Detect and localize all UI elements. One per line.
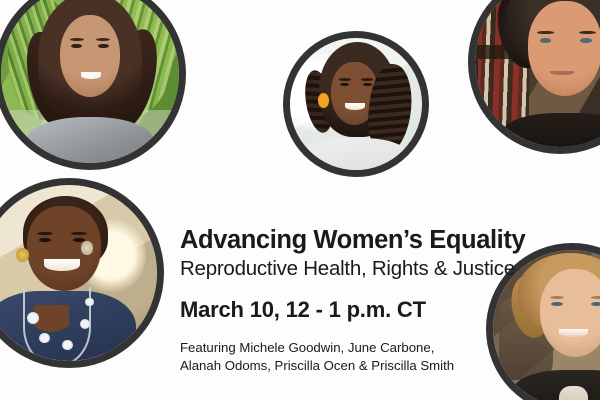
portrait-top-left: [0, 0, 186, 170]
portrait-top-right-photo: [475, 0, 600, 147]
event-datetime: March 10, 12 - 1 p.m. CT: [180, 298, 520, 322]
earring-left-icon: [318, 93, 329, 108]
featuring-line-2: Alanah Odoms, Priscilla Ocen & Priscilla…: [180, 357, 520, 374]
featuring-speakers: Featuring Michele Goodwin, June Carbone,…: [180, 339, 520, 374]
portrait-left: [0, 178, 164, 368]
earring-right-icon: [81, 241, 92, 254]
featuring-line-1: Featuring Michele Goodwin, June Carbone,: [180, 339, 520, 356]
event-promo-poster: Advancing Women’s Equality Reproductive …: [0, 0, 600, 400]
portrait-top-left-photo: [1, 0, 179, 163]
portrait-left-photo: [0, 185, 157, 361]
earring-left-icon: [16, 248, 28, 262]
portrait-center-top-photo: [290, 38, 422, 170]
portrait-top-right: [468, 0, 600, 154]
portrait-center-top: [283, 31, 429, 177]
page-title: Advancing Women’s Equality: [180, 227, 520, 254]
poster-text-block: Advancing Women’s Equality Reproductive …: [180, 227, 520, 374]
page-subtitle: Reproductive Health, Rights & Justice: [180, 258, 520, 281]
